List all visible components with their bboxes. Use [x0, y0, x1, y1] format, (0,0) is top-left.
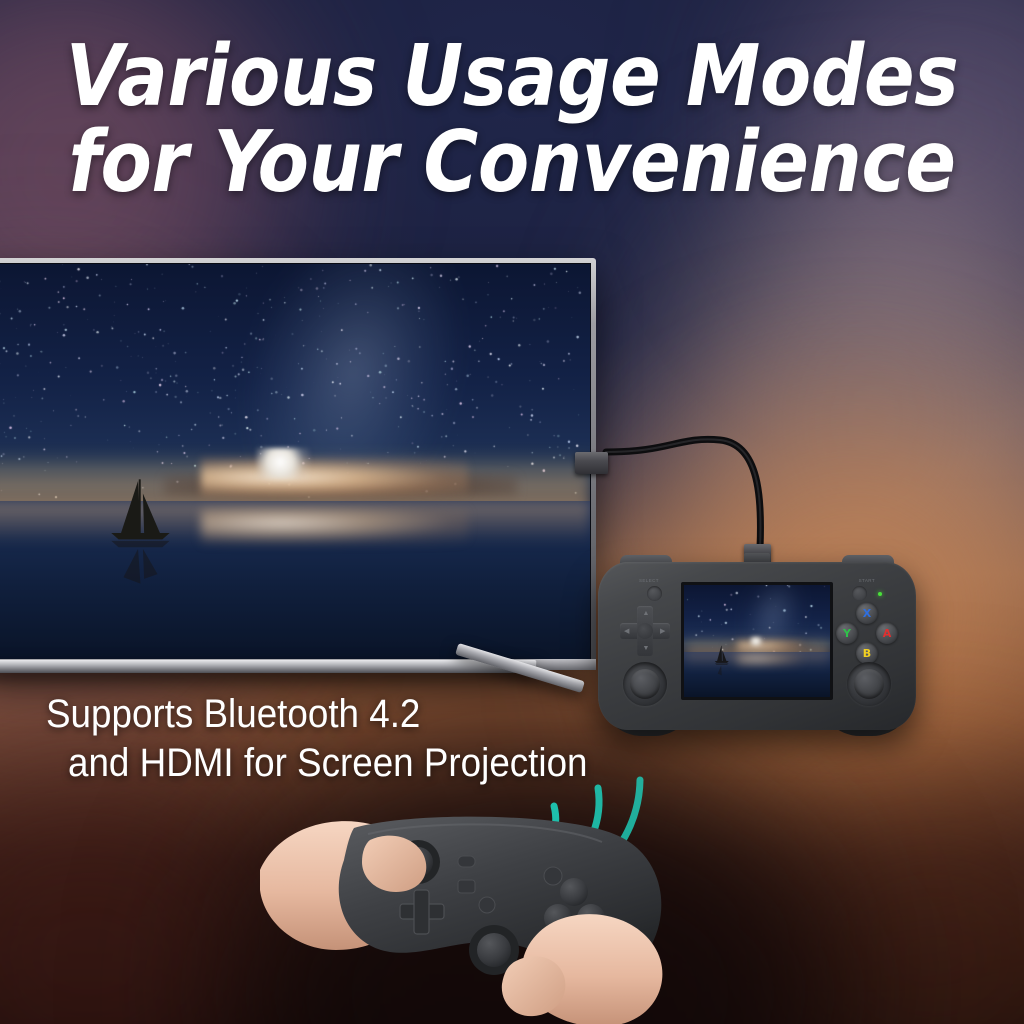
dpad-down-icon: ▼ — [643, 645, 650, 652]
tv-screen-artwork — [0, 264, 590, 659]
select-button-label: SELECT — [639, 578, 659, 583]
headline: Various Usage Modes for Your Convenience — [0, 36, 1024, 203]
dpad-up-icon: ▲ — [643, 610, 650, 617]
cloud-reflection — [201, 509, 469, 545]
button-x[interactable]: X — [856, 602, 878, 624]
marketing-banner: Various Usage Modes for Your Convenience — [0, 0, 1024, 1024]
console-screen-artwork — [684, 585, 830, 697]
dpad-right-icon: ▶ — [660, 628, 665, 635]
dpad-icon[interactable]: ▲ ▼ ◀ ▶ — [620, 606, 670, 656]
console-screen — [681, 582, 833, 700]
tv-screen — [0, 263, 591, 660]
right-stick-cap — [854, 669, 884, 699]
wireless-pro-controller — [258, 800, 718, 1024]
lit-cloud-small — [737, 640, 801, 651]
moon-glow — [256, 448, 311, 480]
button-a[interactable]: A — [876, 622, 898, 644]
hdmi-plug-television-end — [575, 452, 608, 474]
cloud-reflection-small — [737, 654, 801, 664]
face-button-cluster: X Y A B — [836, 602, 898, 664]
button-y-label: Y — [843, 628, 851, 639]
dpad-left-icon: ◀ — [624, 628, 629, 635]
moon-glow-small — [750, 637, 763, 646]
tv-stand-base — [0, 660, 536, 673]
led-dot-icon — [878, 592, 882, 596]
lit-cloud — [201, 458, 469, 498]
tv-chassis — [0, 258, 596, 670]
headline-line-2: for Your Convenience — [61, 122, 962, 204]
button-a-label: A — [883, 628, 892, 639]
right-analog-stick[interactable] — [847, 662, 891, 706]
select-button[interactable] — [647, 586, 662, 601]
sailboat-icon-small — [713, 644, 731, 675]
subcopy-line-1: Supports Bluetooth 4.2 — [46, 690, 690, 739]
button-b-label: B — [863, 648, 871, 659]
television — [0, 258, 596, 670]
start-button-label: START — [859, 578, 875, 583]
button-y[interactable]: Y — [836, 622, 858, 644]
dpad-center — [637, 623, 653, 639]
button-b[interactable]: B — [856, 642, 878, 664]
button-x-label: X — [863, 608, 871, 619]
start-button[interactable] — [852, 586, 867, 601]
headline-line-1: Various Usage Modes — [61, 36, 962, 118]
sailboat-icon — [104, 473, 177, 584]
